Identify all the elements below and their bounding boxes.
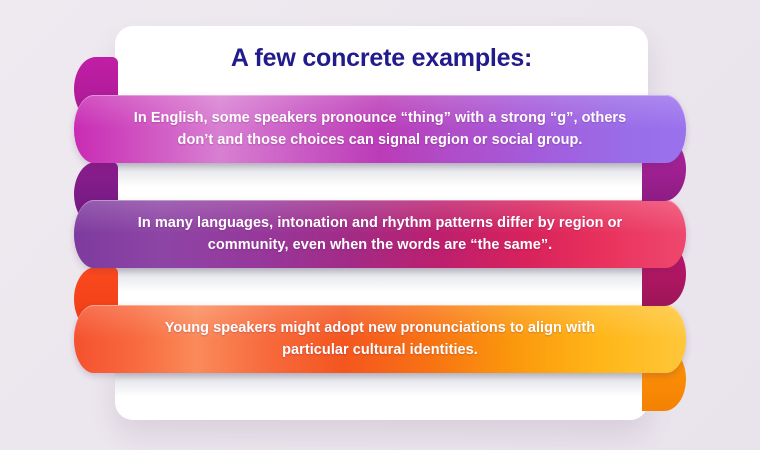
infographic-canvas: A few concrete examples: In English, som… xyxy=(0,0,760,450)
ribbon-label: In English, some speakers pronounce “thi… xyxy=(130,107,630,152)
ribbon-drop-shadow-1 xyxy=(115,161,648,187)
ribbon-item-3[interactable]: Young speakers might adopt new pronuncia… xyxy=(74,305,686,373)
ribbon-label: In many languages, intonation and rhythm… xyxy=(130,212,630,257)
ribbon-item-1[interactable]: In English, some speakers pronounce “thi… xyxy=(74,95,686,163)
ribbon-item-2[interactable]: In many languages, intonation and rhythm… xyxy=(74,200,686,268)
ribbon-drop-shadow-3 xyxy=(115,371,648,397)
page-title: A few concrete examples: xyxy=(115,44,648,73)
ribbon-band: In many languages, intonation and rhythm… xyxy=(74,200,686,268)
ribbon-drop-shadow-2 xyxy=(115,266,648,292)
ribbon-band: Young speakers might adopt new pronuncia… xyxy=(74,305,686,373)
ribbon-band: In English, some speakers pronounce “thi… xyxy=(74,95,686,163)
ribbon-label: Young speakers might adopt new pronuncia… xyxy=(130,317,630,362)
